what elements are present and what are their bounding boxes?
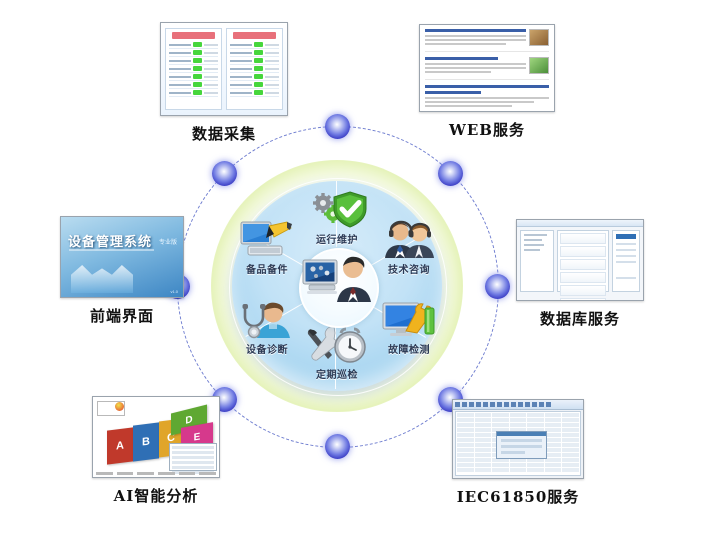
module-iec61850-service[interactable]: IEC61850服务: [452, 399, 584, 507]
front-end-interface-thumbnail[interactable]: 设备管理系统 专业版 v1.0: [60, 216, 184, 298]
segment-备品备件[interactable]: 备品备件: [229, 220, 305, 276]
segment-运行维护[interactable]: 运行维护: [299, 190, 375, 246]
module-label-web-service: WEB服务: [419, 119, 555, 140]
splash-edition: 专业版: [159, 237, 177, 246]
segment-设备诊断[interactable]: 设备诊断: [229, 300, 305, 356]
segment-技术咨询[interactable]: 技术咨询: [371, 220, 447, 276]
module-label-ai-analysis: AI智能分析: [92, 485, 220, 506]
orbit-node-1: [325, 114, 350, 139]
database-service-thumbnail[interactable]: [516, 219, 644, 301]
list-item: [425, 57, 549, 80]
module-front-end-interface[interactable]: 设备管理系统 专业版 v1.0 前端界面: [60, 216, 184, 326]
table-row: [169, 57, 218, 65]
segment-label: 运行维护: [299, 231, 375, 246]
table-row: [230, 89, 279, 97]
form-panel: [557, 230, 609, 292]
dialog-panel: [612, 230, 640, 292]
acq-table-header: [233, 32, 276, 39]
toolbar: [453, 400, 583, 410]
gear-shield-check-icon: [299, 190, 375, 230]
module-data-acquisition[interactable]: 数据采集: [160, 22, 288, 144]
table-row: [169, 81, 218, 89]
acq-table-right: [226, 28, 283, 110]
article-thumbnail: [529, 29, 549, 46]
table-row: [169, 65, 218, 73]
table-row: [230, 57, 279, 65]
spreadsheet-grid: [455, 411, 581, 476]
table-row: [230, 41, 279, 49]
table-row: [169, 73, 218, 81]
segment-定期巡检[interactable]: 定期巡检: [299, 325, 375, 381]
table-row: [169, 41, 218, 49]
article-thumbnail: [529, 57, 549, 74]
data-grid-overlay: [169, 443, 217, 471]
segment-故障检测[interactable]: 故障检测: [371, 300, 447, 356]
table-row: [230, 49, 279, 57]
table-row: [230, 81, 279, 89]
list-item: [425, 29, 549, 52]
splash-footer: v1.0: [170, 289, 178, 294]
segment-label: 设备诊断: [229, 341, 305, 356]
segment-label: 备品备件: [229, 261, 305, 276]
segment-label: 定期巡检: [299, 366, 375, 381]
module-label-front-end-interface: 前端界面: [60, 305, 184, 326]
table-row: [169, 89, 218, 97]
splash-title: 设备管理系统: [68, 231, 152, 250]
tree-panel: [520, 230, 554, 292]
monitor-wrench-icon: [371, 300, 447, 340]
segment-label: 技术咨询: [371, 261, 447, 276]
acq-table-left: [165, 28, 222, 110]
data-acquisition-thumbnail[interactable]: [160, 22, 288, 116]
table-row: [169, 49, 218, 57]
module-label-database-service: 数据库服务: [516, 308, 644, 329]
list-item: [425, 85, 549, 112]
diagram-canvas: 运行维护: [0, 0, 709, 546]
analysis-block-b: B: [133, 422, 159, 461]
orbit-node-2: [438, 161, 463, 186]
chart-axis-labels: [96, 472, 216, 475]
table-row: [230, 65, 279, 73]
web-service-thumbnail[interactable]: [419, 24, 555, 112]
iec61850-thumbnail[interactable]: [452, 399, 584, 479]
wrench-clock-icon: [299, 325, 375, 365]
service-hub: 运行维护: [211, 160, 463, 412]
splash-graphic: [71, 265, 133, 293]
monitor-tools-icon: [229, 220, 305, 260]
ai-analysis-thumbnail[interactable]: A B C D E: [92, 396, 220, 478]
acq-table-header: [172, 32, 215, 39]
orbit-node-5: [325, 434, 350, 459]
module-label-data-acquisition: 数据采集: [160, 123, 288, 144]
engineer-computer-icon: [299, 252, 375, 309]
table-row: [230, 73, 279, 81]
orbit-node-8: [212, 161, 237, 186]
module-web-service[interactable]: WEB服务: [419, 24, 555, 140]
doctor-stethoscope-icon: [229, 300, 305, 340]
modal-dialog[interactable]: [496, 431, 548, 459]
legend-marker-icon: [115, 402, 124, 411]
support-agents-icon: [371, 220, 447, 260]
window-titlebar: [517, 220, 643, 227]
segment-label: 故障检测: [371, 341, 447, 356]
orbit-node-3: [485, 274, 510, 299]
module-ai-analysis[interactable]: A B C D E AI智能分析: [92, 396, 220, 506]
analysis-block-a: A: [107, 427, 133, 464]
splash-divider: [69, 249, 154, 251]
module-label-iec61850-service: IEC61850服务: [452, 486, 584, 507]
module-database-service[interactable]: 数据库服务: [516, 219, 644, 329]
